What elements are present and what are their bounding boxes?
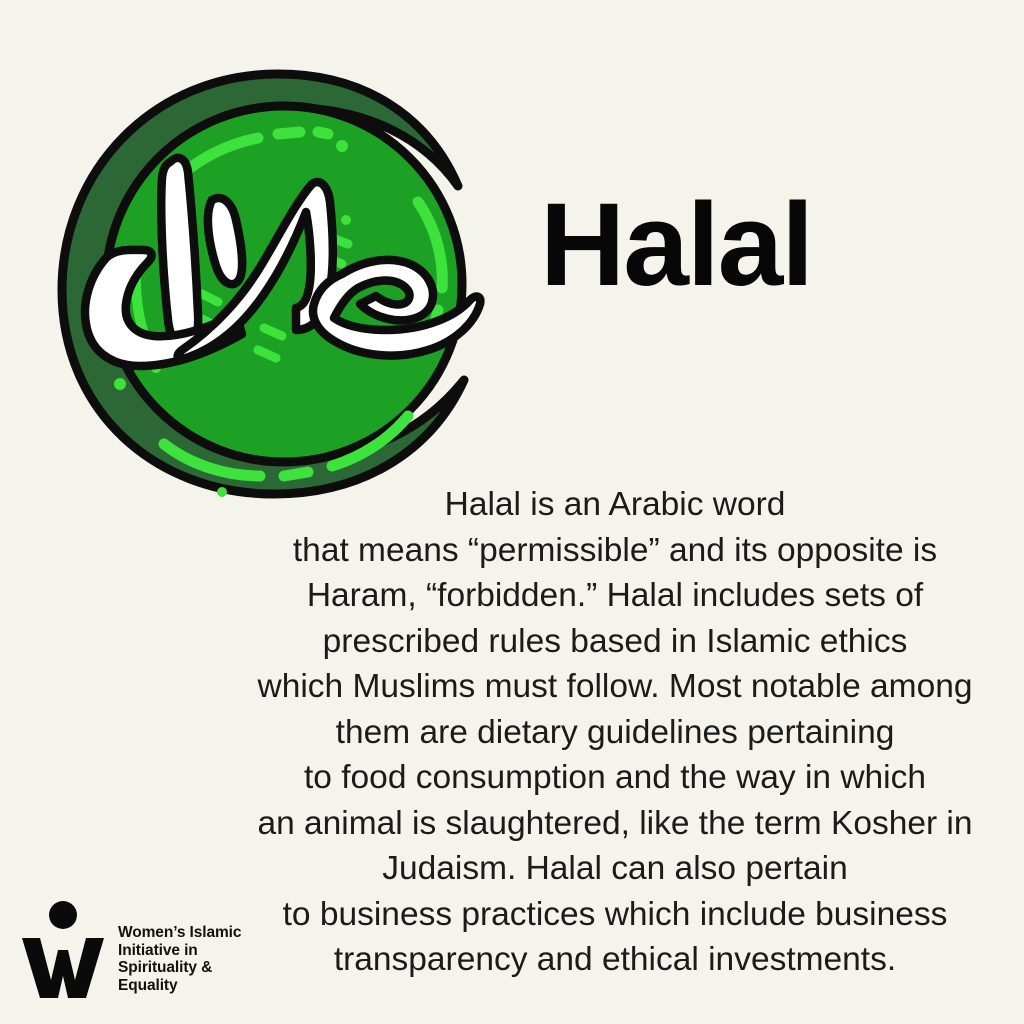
wise-name-line: Women’s Islamic — [118, 924, 241, 942]
wise-name-line: Spirituality & — [118, 959, 241, 977]
wise-name-line: Initiative in — [118, 942, 241, 960]
description-line: them are dietary guidelines pertaining — [120, 710, 1024, 756]
description-line: to business practices which include busi… — [120, 892, 1024, 938]
description-line: prescribed rules based in Islamic ethics — [120, 619, 1024, 665]
description-line: that means “permissible” and its opposit… — [120, 528, 1024, 574]
description-paragraph: Halal is an Arabic word that means “perm… — [120, 482, 1024, 983]
halal-infographic-card: Halal Halal is an Arabic word that means… — [0, 0, 1024, 1024]
wise-organization-name: Women’s Islamic Initiative in Spirituali… — [118, 906, 241, 994]
page-title: Halal — [540, 186, 960, 304]
description-line: Halal is an Arabic word — [120, 482, 1024, 528]
wise-w-letter — [22, 938, 104, 998]
wise-organization-logo: Women’s Islamic Initiative in Spirituali… — [20, 898, 241, 1002]
wise-name-line: Equality — [118, 977, 241, 995]
description-line: Haram, “forbidden.” Halal includes sets … — [120, 573, 1024, 619]
description-line: to food consumption and the way in which — [120, 755, 1024, 801]
wise-head-dot — [49, 901, 77, 929]
description-line: transparency and ethical investments. — [120, 937, 1024, 983]
description-line: Judaism. Halal can also pertain — [120, 846, 1024, 892]
description-line: an animal is slaughtered, like the term … — [120, 801, 1024, 847]
wise-w-figure-icon — [20, 898, 106, 1002]
description-line: which Muslims must follow. Most notable … — [120, 664, 1024, 710]
calligraphy-alif-stroke — [161, 158, 198, 344]
halal-emblem — [46, 62, 496, 502]
